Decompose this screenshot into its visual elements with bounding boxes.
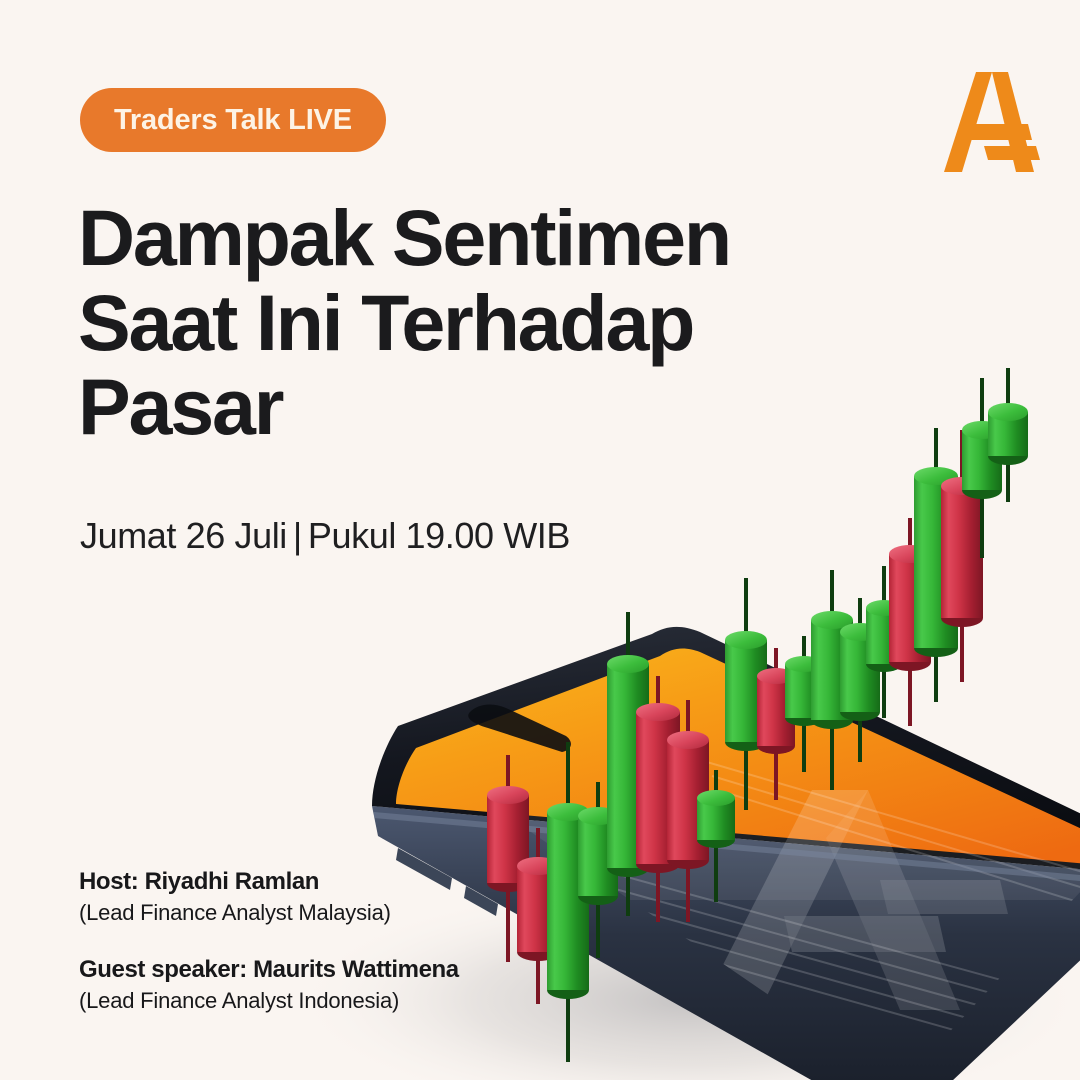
guest-role: (Lead Finance Analyst Indonesia): [79, 986, 459, 1016]
event-time: Pukul 19.00 WIB: [308, 515, 570, 556]
event-datetime: Jumat 26 Juli|Pukul 19.00 WIB: [80, 515, 570, 557]
guest-name: Guest speaker: Maurits Wattimena: [79, 954, 459, 986]
datetime-separator: |: [287, 515, 308, 556]
headline-line-1: Dampak Sentimen: [78, 196, 730, 281]
host-credit: Host: Riyadhi Ramlan (Lead Finance Analy…: [79, 866, 459, 928]
guest-credit: Guest speaker: Maurits Wattimena (Lead F…: [79, 954, 459, 1016]
host-role: (Lead Finance Analyst Malaysia): [79, 898, 459, 928]
speaker-credits: Host: Riyadhi Ramlan (Lead Finance Analy…: [79, 866, 459, 1016]
headline-line-2: Saat Ini Terhadap: [78, 281, 730, 366]
page-title: Dampak Sentimen Saat Ini Terhadap Pasar: [78, 196, 730, 450]
poster-canvas: Traders Talk LIVE Dampak Sentimen Saat I…: [0, 0, 1080, 1080]
event-date: Jumat 26 Juli: [80, 515, 287, 556]
live-badge: Traders Talk LIVE: [80, 88, 386, 152]
brand-logo-a-icon: [932, 60, 1042, 180]
headline-line-3: Pasar: [78, 365, 730, 450]
host-name: Host: Riyadhi Ramlan: [79, 866, 459, 898]
logo-svg: [932, 60, 1042, 180]
